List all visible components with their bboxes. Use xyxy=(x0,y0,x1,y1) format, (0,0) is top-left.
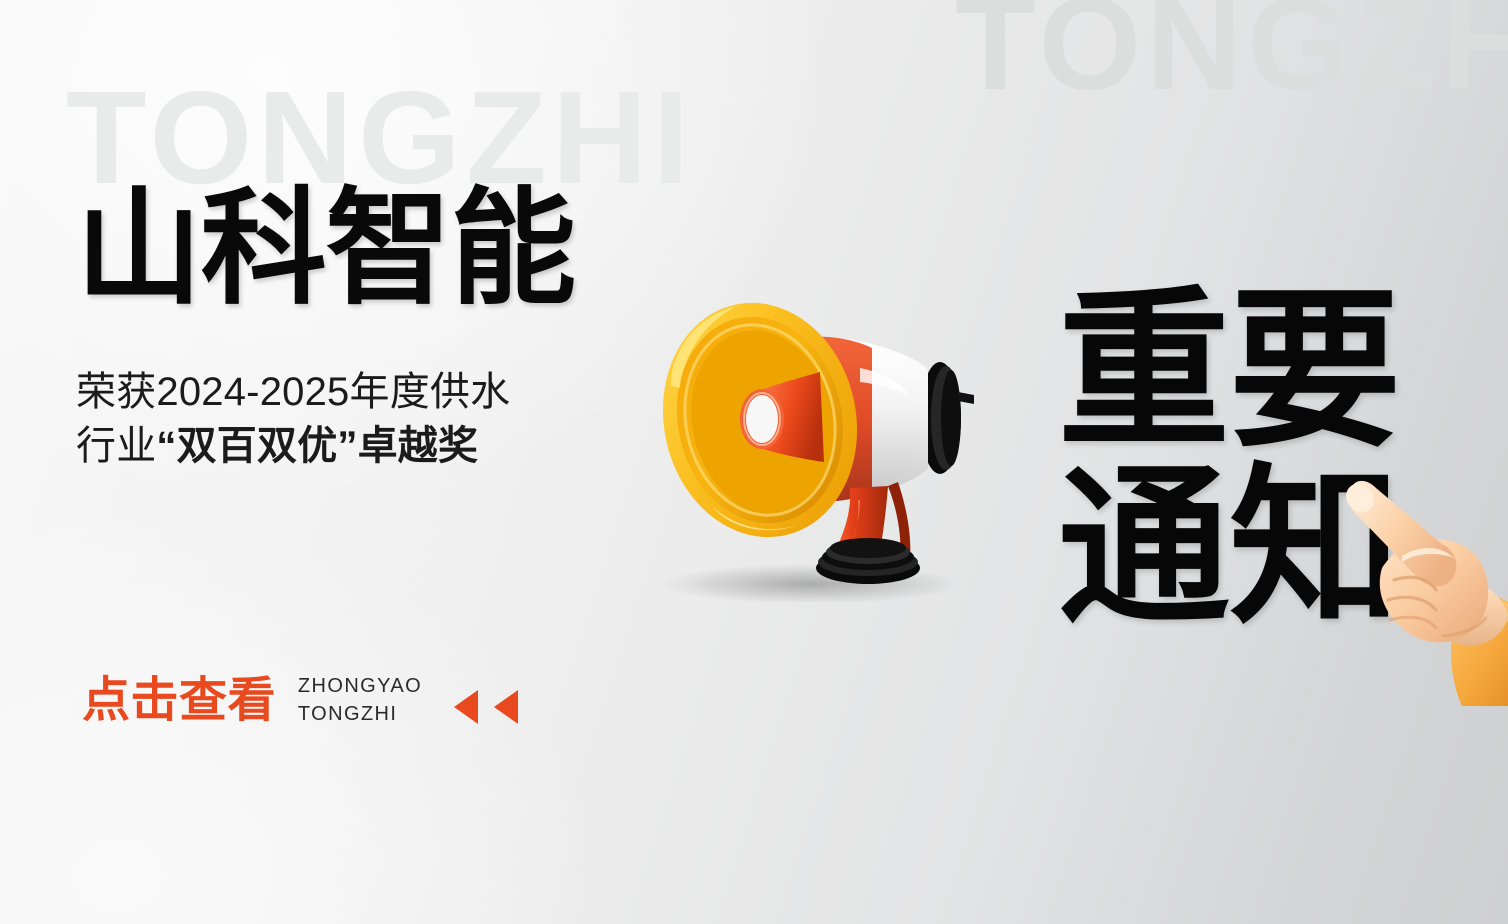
cta-pinyin-line-1: ZHONGYAO xyxy=(298,672,422,700)
cta-arrows xyxy=(454,676,518,724)
award-text-block: 荣获2024-2025年度供水 行业“双百双优”卓越奖 xyxy=(76,366,716,473)
pointing-hand-icon xyxy=(1336,476,1508,706)
cta-row[interactable]: 点击查看 ZHONGYAO TONGZHI xyxy=(82,672,518,729)
cta-pinyin-line-2: TONGZHI xyxy=(298,700,422,728)
notice-poster: TONGZHI TONGZHI xyxy=(0,0,1508,924)
award-line-2-prefix: 行业 xyxy=(76,424,156,468)
notice-headline-line-1: 重要 xyxy=(1058,282,1400,459)
triangle-left-icon[interactable] xyxy=(494,690,518,724)
award-line-2-suffix: 卓越奖 xyxy=(358,424,479,468)
award-line-2-quoted: “双百双优” xyxy=(156,424,357,468)
award-line-2: 行业“双百双优”卓越奖 xyxy=(76,420,716,474)
click-to-view-button[interactable]: 点击查看 xyxy=(82,676,276,724)
triangle-left-icon[interactable] xyxy=(454,690,478,724)
background-watermark-secondary: TONGZHI xyxy=(955,0,1508,110)
left-content-column: 山科智能 荣获2024-2025年度供水 行业“双百双优”卓越奖 xyxy=(76,186,716,473)
cta-pinyin: ZHONGYAO TONGZHI xyxy=(298,672,422,729)
award-line-1: 荣获2024-2025年度供水 xyxy=(76,366,716,420)
page-title: 山科智能 xyxy=(76,186,716,312)
